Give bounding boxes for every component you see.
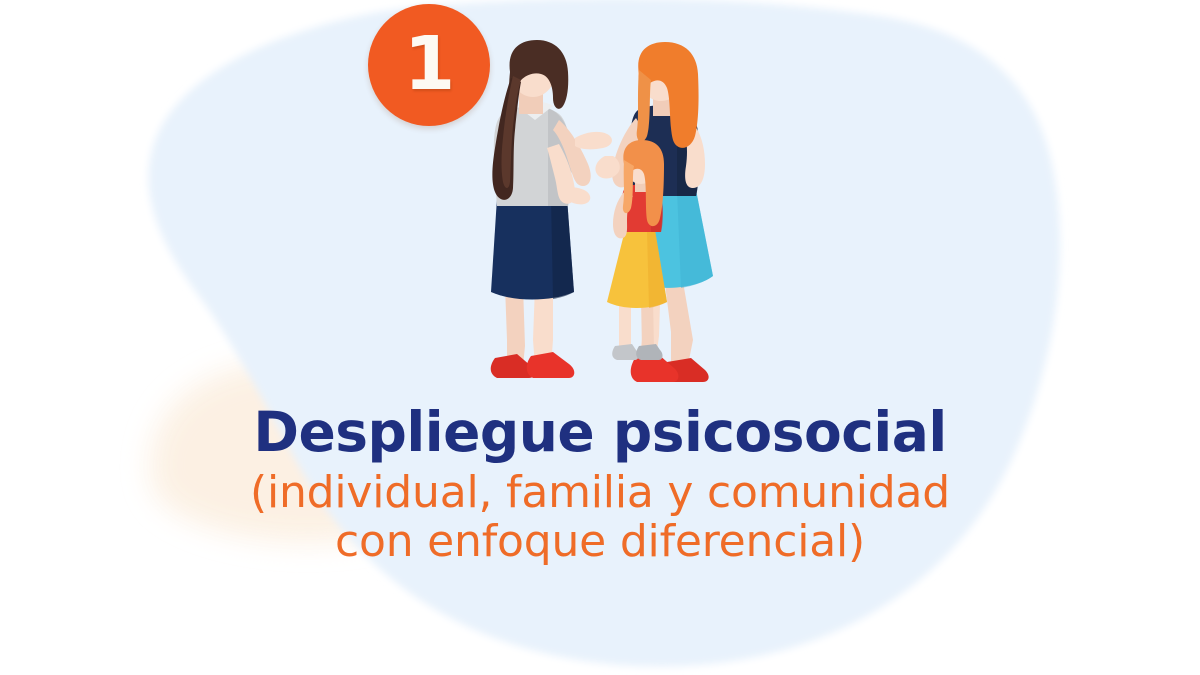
step-number-label: 1 [404, 27, 455, 101]
family-conversation-illustration [455, 40, 755, 410]
page-subtitle: (individual, familia y comunidad con enf… [0, 468, 1200, 567]
woman-left-hand-upper [575, 132, 612, 149]
subtitle-line-1: (individual, familia y comunidad [0, 468, 1200, 517]
woman-right-skirt-shade [677, 190, 713, 288]
child-left-shoe [612, 344, 638, 360]
woman-left-front-shoe [527, 352, 575, 378]
subtitle-line-2: con enfoque diferencial) [0, 517, 1200, 566]
woman-left-skirt-shade [551, 198, 574, 299]
child-right-shoe [636, 344, 662, 360]
infographic-slide: 1 [0, 0, 1200, 675]
caption-block: Despliegue psicosocial (individual, fami… [0, 404, 1200, 566]
page-title: Despliegue psicosocial [0, 404, 1200, 462]
woman-left-figure [491, 40, 612, 378]
